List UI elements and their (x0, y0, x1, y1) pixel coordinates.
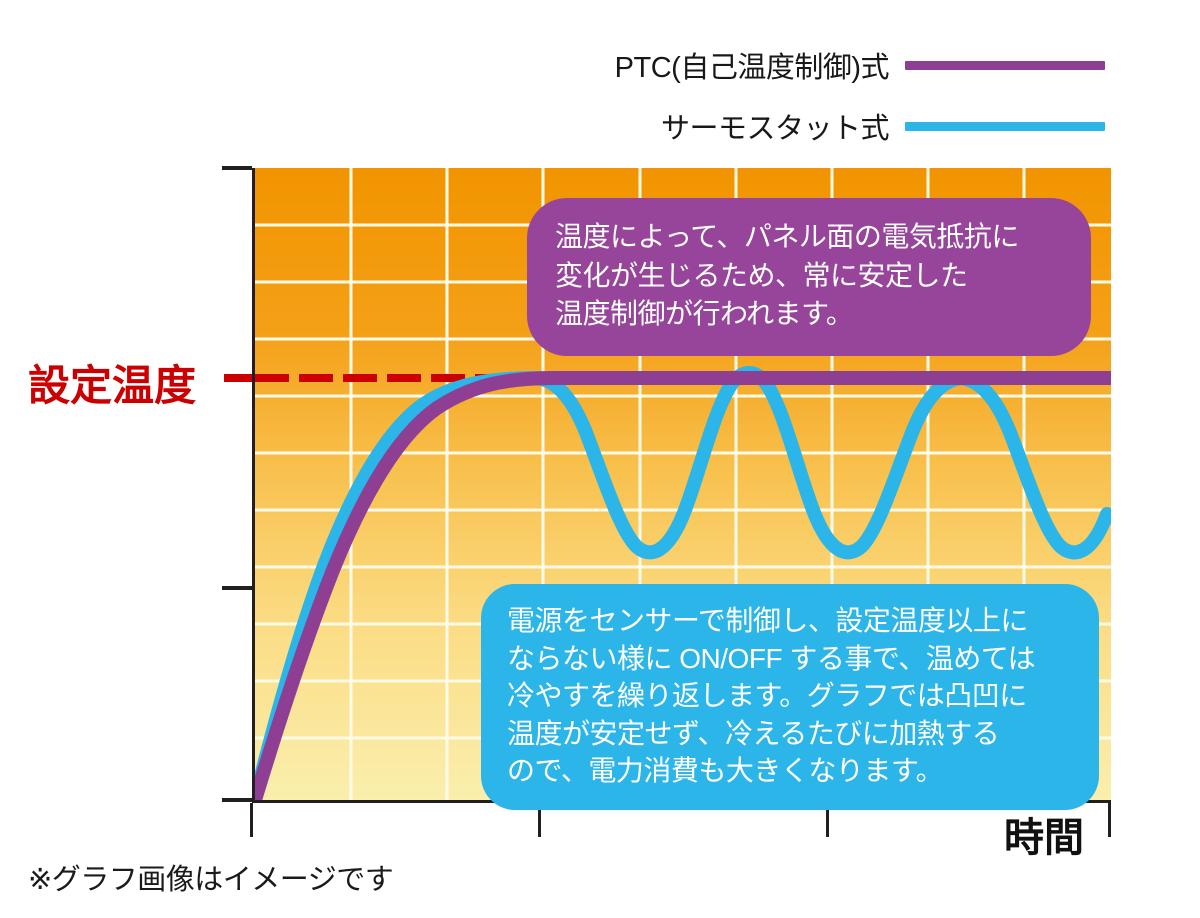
legend-label-ptc: PTC(自己温度制御)式 (615, 44, 889, 86)
callout-ptc-line-3: 温度制御が行われます。 (555, 295, 1063, 334)
x-axis-title: 時間 (1004, 805, 1084, 863)
callout-thermostat: 電源をセンサーで制御し、設定温度以上に ならない様に ON/OFF する事で、温… (481, 584, 1099, 810)
y-axis-tick-top (222, 166, 252, 170)
y-axis-tick-bottom (222, 798, 252, 802)
line-swatch-icon (905, 61, 1105, 70)
y-axis-tick-mid (222, 586, 252, 590)
legend-item-thermostat: サーモスタット式 (661, 105, 1105, 147)
footnote-disclaimer: ※グラフ画像はイメージです (28, 856, 393, 898)
callout-ptc-line-2: 変化が生じるため、常に安定した (555, 257, 1063, 296)
y-axis-setpoint-label: 設定温度 (28, 352, 196, 413)
line-swatch-icon (905, 122, 1105, 131)
callout-thermostat-line-3: 冷やすを繰り返します。グラフでは凸凹に (507, 677, 1073, 715)
setpoint-dash-outside-icon (224, 374, 254, 382)
legend-label-thermostat: サーモスタット式 (661, 105, 889, 147)
callout-thermostat-line-4: 温度が安定せず、冷えるたびに加熱する (507, 715, 1073, 753)
x-axis-tick-3 (1108, 803, 1111, 837)
callout-thermostat-line-5: ので、電力消費も大きくなります。 (507, 752, 1073, 790)
x-axis-tick-0 (250, 803, 253, 837)
legend-item-ptc: PTC(自己温度制御)式 (615, 44, 1105, 86)
chart-plot-area: 温度によって、パネル面の電気抵抗に 変化が生じるため、常に安定した 温度制御が行… (252, 168, 1111, 803)
callout-ptc-line-1: 温度によって、パネル面の電気抵抗に (555, 218, 1063, 257)
callout-thermostat-line-2: ならない様に ON/OFF する事で、温めては (507, 640, 1073, 678)
chart-legend: PTC(自己温度制御)式 サーモスタット式 (0, 44, 1105, 147)
callout-ptc: 温度によって、パネル面の電気抵抗に 変化が生じるため、常に安定した 温度制御が行… (527, 198, 1091, 356)
callout-thermostat-line-1: 電源をセンサーで制御し、設定温度以上に (507, 602, 1073, 640)
